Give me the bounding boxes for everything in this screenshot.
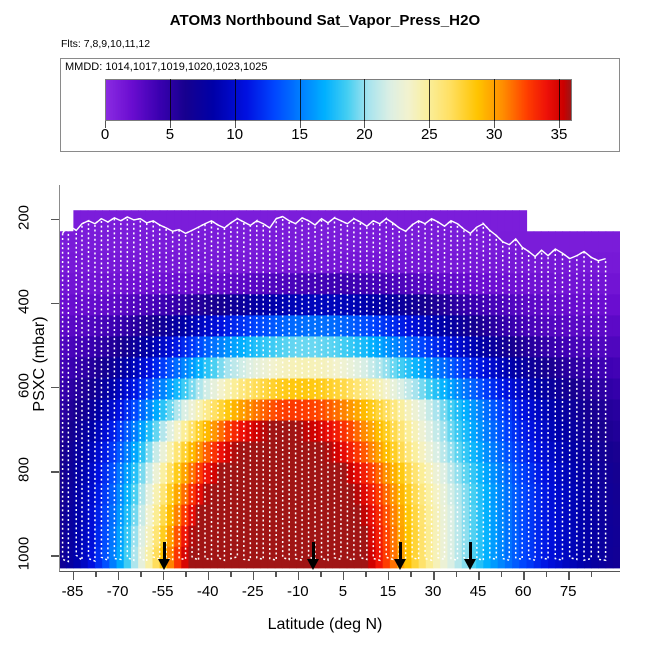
colorbar-tick-label: 25 [421, 126, 438, 143]
x-tick-minor [185, 572, 187, 577]
colorbar-tick-label: 35 [551, 126, 568, 143]
y-tick-label: 200 [16, 193, 33, 241]
x-tick-label: 5 [339, 583, 347, 600]
colorbar-ticklabels: 05101520253035 [85, 126, 595, 148]
x-tick-label: -70 [107, 583, 129, 600]
colorbar-divider [235, 79, 236, 121]
x-tick-major [73, 572, 75, 580]
x-tick-major [343, 572, 345, 580]
x-tick-label: -40 [197, 583, 219, 600]
x-tick-major [568, 572, 570, 580]
colorbar-divider [429, 79, 430, 121]
profile-arrow [393, 542, 407, 570]
colorbar-tick-label: 10 [226, 126, 243, 143]
arrow-head [394, 559, 406, 570]
colorbar-tick-label: 20 [356, 126, 373, 143]
x-tick-major [298, 572, 300, 580]
x-tick-minor [320, 572, 322, 577]
x-tick-minor [501, 572, 503, 577]
figure-root: ATOM3 Northbound Sat_Vapor_Press_H2O Flt… [0, 0, 650, 650]
colorbar-tick-label: 30 [486, 126, 503, 143]
colorbar-divider [364, 79, 365, 121]
x-tick-minor [591, 572, 593, 577]
y-tick-label: 800 [16, 446, 33, 494]
x-tick-label: 30 [425, 583, 442, 600]
x-tick-label: 75 [560, 583, 577, 600]
colorbar-gradient [105, 79, 572, 121]
x-tick-major [388, 572, 390, 580]
y-tick [51, 471, 59, 473]
flights-annotation: Flts: 7,8,9,10,11,12 [61, 38, 150, 50]
x-axis-title: Latitude (deg N) [0, 616, 650, 634]
x-tick-major [208, 572, 210, 580]
y-tick [51, 555, 59, 557]
y-tick [51, 219, 59, 221]
x-tick-minor [365, 572, 367, 577]
x-tick-major [253, 572, 255, 580]
x-tick-label: -55 [152, 583, 174, 600]
x-tick-label: 60 [515, 583, 532, 600]
colorbar-divider [494, 79, 495, 121]
y-tick-label: 1000 [16, 530, 33, 578]
y-tick-label: 600 [16, 361, 33, 409]
y-tick [51, 303, 59, 305]
x-tick-label: -85 [62, 583, 84, 600]
x-tick-minor [546, 572, 548, 577]
x-tick-major [523, 572, 525, 580]
mmdd-annotation: MMDD: 1014,1017,1019,1020,1023,1025 [65, 61, 267, 73]
x-tick-minor [410, 572, 412, 577]
x-tick-label: 15 [380, 583, 397, 600]
colorbar-divider [300, 79, 301, 121]
y-axis-title: PSXC (mbar) [31, 264, 49, 464]
arrow-head [464, 559, 476, 570]
colorbar-tick-label: 0 [101, 126, 109, 143]
x-tick-major [433, 572, 435, 580]
x-tick-minor [456, 572, 458, 577]
x-tick-major [478, 572, 480, 580]
axis-frame [59, 185, 620, 572]
colorbar [105, 79, 572, 121]
x-tick-label: 45 [470, 583, 487, 600]
profile-arrow [463, 542, 477, 570]
x-tick-minor [140, 572, 142, 577]
y-tick [51, 387, 59, 389]
colorbar-tick-label: 15 [291, 126, 308, 143]
colorbar-tick-label: 5 [166, 126, 174, 143]
colorbar-divider [559, 79, 560, 121]
arrow-head [158, 559, 170, 570]
x-tick-minor [230, 572, 232, 577]
profile-arrow [157, 542, 171, 570]
x-tick-minor [95, 572, 97, 577]
page-title: ATOM3 Northbound Sat_Vapor_Press_H2O [0, 12, 650, 29]
y-tick-label: 400 [16, 277, 33, 325]
x-tick-label: -25 [242, 583, 264, 600]
profile-arrow [306, 542, 320, 570]
x-tick-minor [275, 572, 277, 577]
x-tick-major [118, 572, 120, 580]
x-tick-label: -10 [287, 583, 309, 600]
arrow-head [307, 559, 319, 570]
x-tick-major [163, 572, 165, 580]
colorbar-divider [170, 79, 171, 121]
